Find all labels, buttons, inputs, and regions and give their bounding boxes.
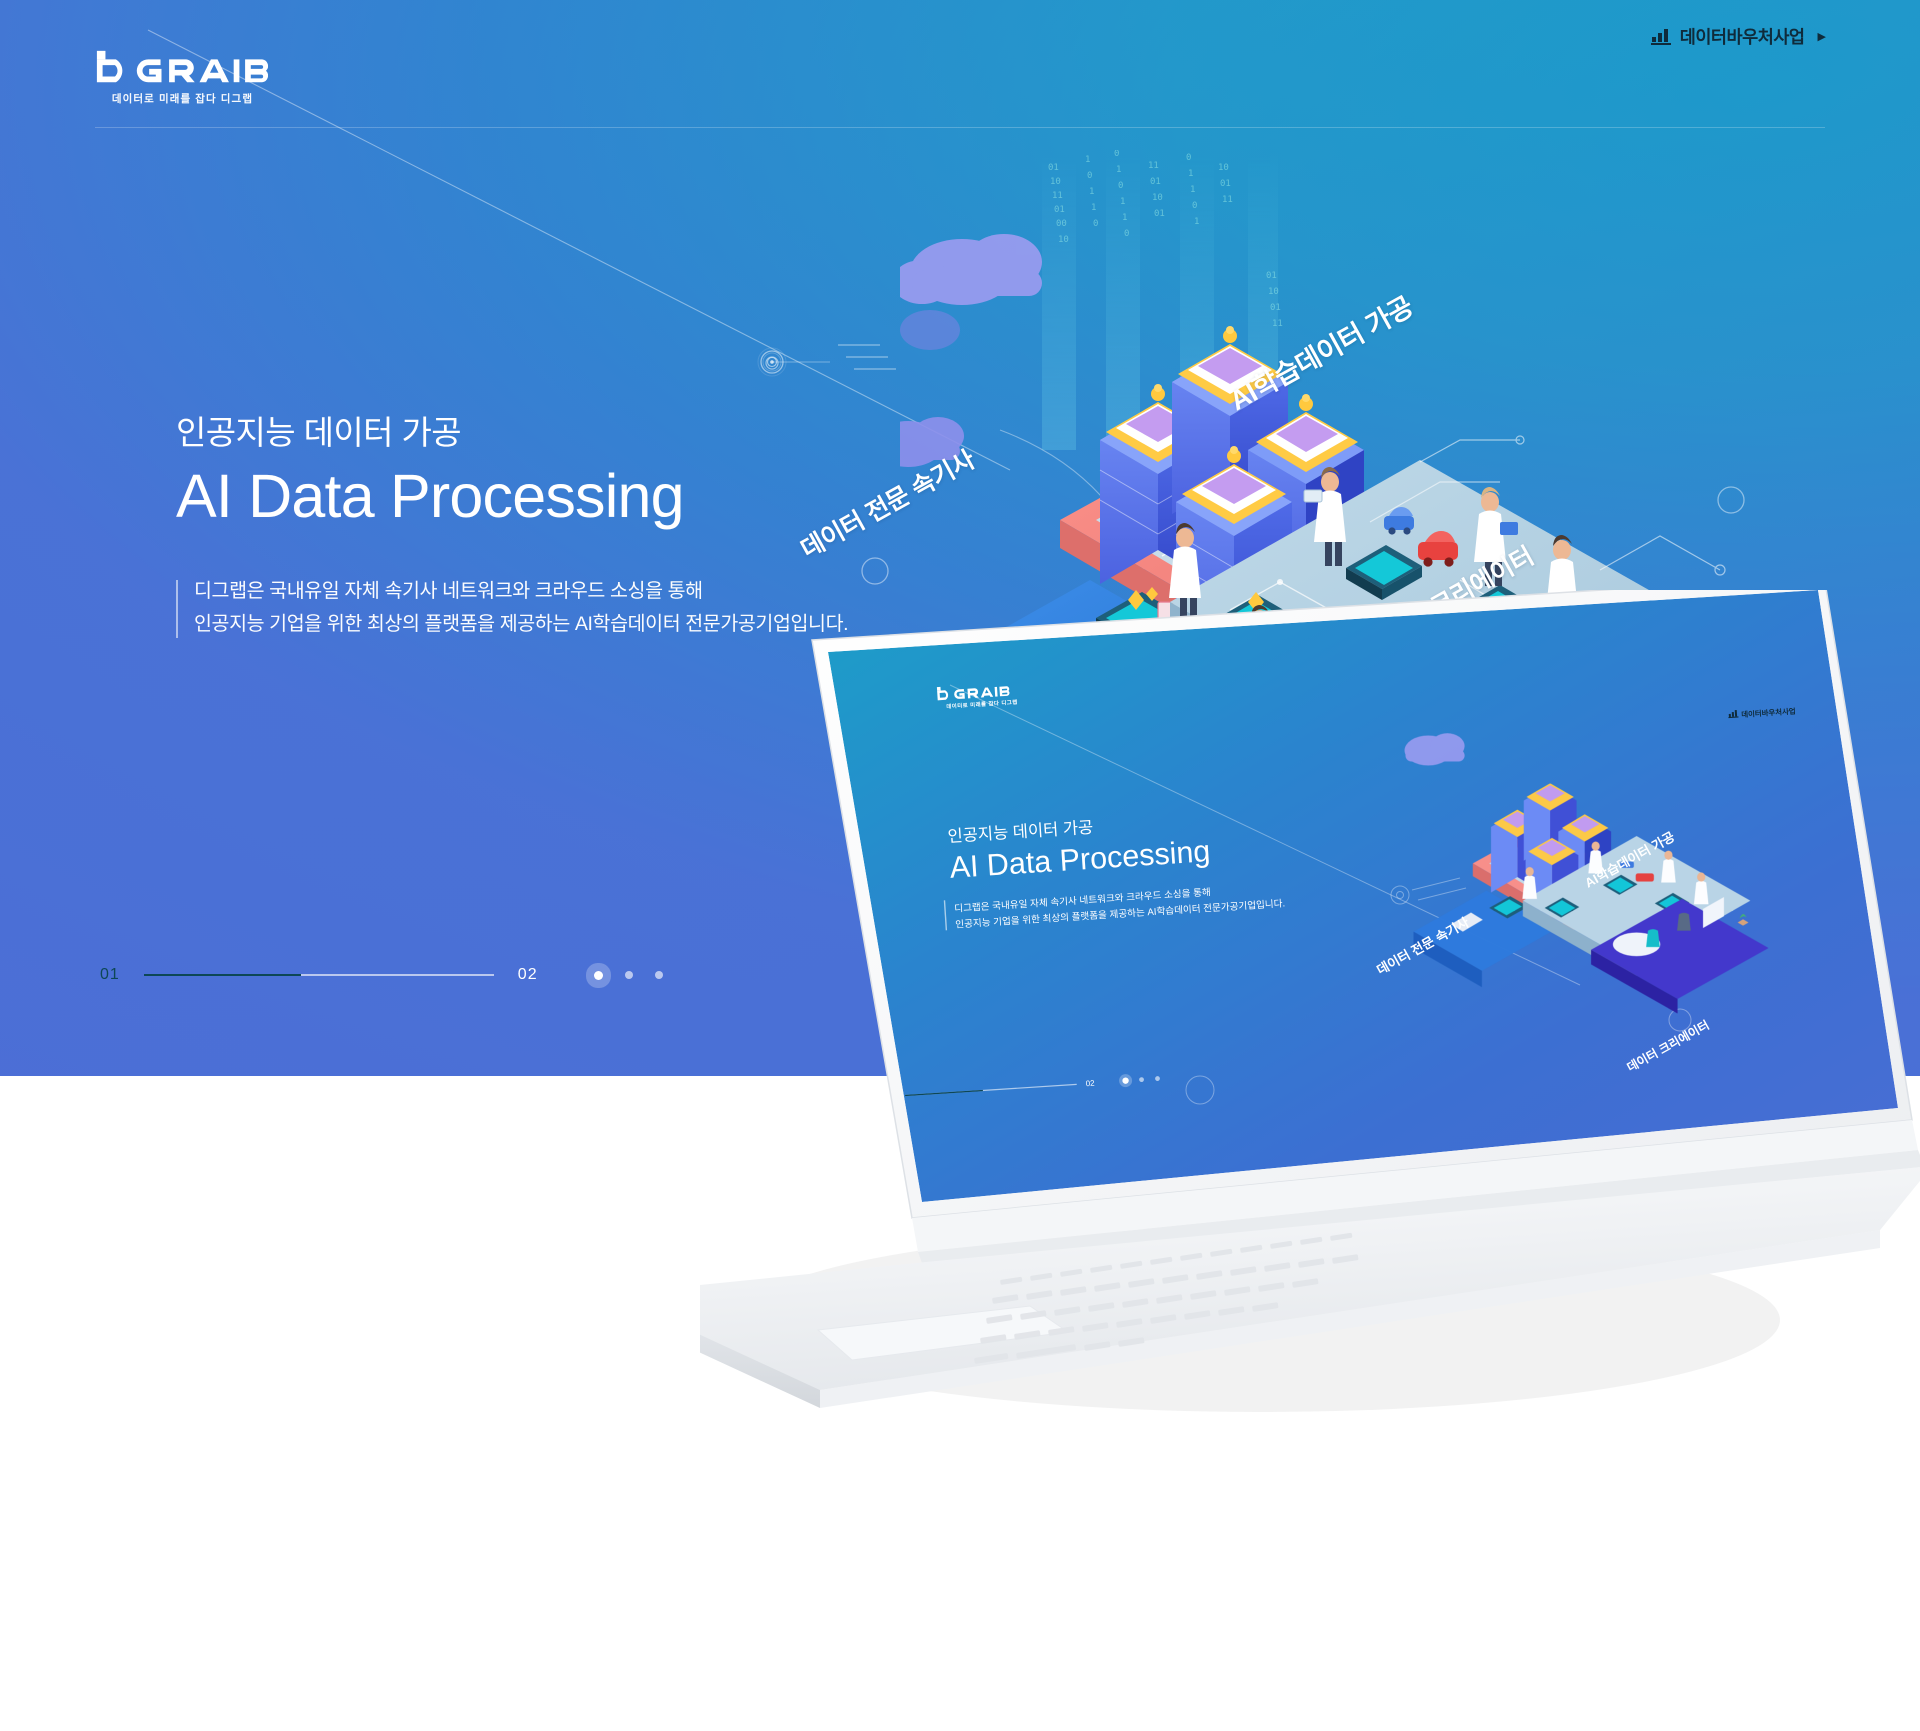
screen-slide-total: 02 [1085, 1079, 1095, 1089]
slider-dot-3[interactable] [655, 971, 663, 979]
slider-controls: 01 02 [100, 966, 663, 984]
svg-text:11: 11 [1222, 195, 1233, 205]
laptop-screen: 데이터 전문 속기사 AI학습데이터 가공 데이터 크리에이터 [828, 590, 1898, 1202]
cloud-icon [900, 234, 1042, 467]
slide-current-index: 01 [100, 966, 120, 984]
hero-title: AI Data Processing [176, 461, 848, 533]
chevron-right-icon: ▶ [1818, 30, 1826, 43]
dgraib-logo-icon [95, 48, 268, 86]
description-accent-bar [176, 580, 178, 638]
svg-text:1: 1 [1091, 203, 1096, 213]
laptop-artwork: 데이터 전문 속기사 AI학습데이터 가공 데이터 크리에이터 [700, 590, 1920, 1590]
svg-text:1: 1 [1085, 155, 1090, 165]
svg-text:01: 01 [1150, 177, 1161, 187]
site-logo[interactable]: 데이터로 미래를 잡다 디그랩 [95, 48, 270, 106]
svg-text:10: 10 [1152, 193, 1163, 203]
logo-tagline: 데이터로 미래를 잡다 디그랩 [95, 91, 270, 106]
svg-text:0: 0 [1093, 219, 1098, 229]
nav-label: 데이터바우처사업 [1680, 24, 1805, 49]
slide-total-count: 02 [518, 966, 538, 984]
slider-progress-fill [144, 974, 302, 976]
svg-text:01: 01 [1154, 209, 1165, 219]
page-root: 011011 010010 101 10 010 110 110110 01 0… [0, 0, 1920, 1731]
laptop-mockup: 데이터 전문 속기사 AI학습데이터 가공 데이터 크리에이터 [700, 590, 1920, 1590]
header-divider [95, 127, 1825, 128]
svg-text:11: 11 [1148, 161, 1159, 171]
svg-text:1: 1 [1089, 187, 1094, 197]
svg-text:0: 0 [1087, 171, 1092, 181]
site-header: 데이터로 미래를 잡다 디그랩 데이터바우처사업 ▶ [0, 0, 1920, 128]
slider-dot-2[interactable] [625, 971, 633, 979]
hero-kicker: 인공지능 데이터 가공 [176, 412, 848, 455]
nav-data-voucher-business[interactable]: 데이터바우처사업 ▶ [1651, 19, 1826, 53]
svg-text:01: 01 [1220, 179, 1231, 189]
svg-text:10: 10 [1218, 163, 1229, 173]
bar-chart-icon [1651, 28, 1671, 45]
slider-dot-1[interactable] [594, 971, 603, 980]
slider-progress-track[interactable] [144, 974, 494, 976]
slider-dots [594, 971, 663, 980]
